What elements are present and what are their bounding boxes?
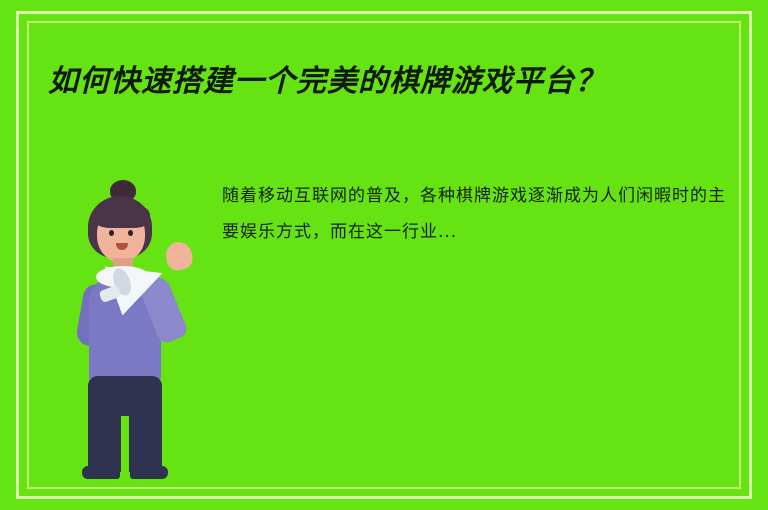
eye-left [109, 230, 114, 236]
eye-right [128, 230, 133, 236]
body-paragraph: 随着移动互联网的普及，各种棋牌游戏逐渐成为人们闲暇时的主要娱乐方式，而在这一行业… [222, 178, 732, 250]
hand-right [163, 240, 194, 273]
page-title: 如何快速搭建一个完美的棋牌游戏平台？ [48, 62, 728, 102]
hair-bangs [94, 202, 150, 228]
illustration-woman-with-megaphone [52, 180, 212, 480]
shoe-right [130, 466, 168, 479]
shoe-left [82, 466, 120, 479]
poster-canvas: 如何快速搭建一个完美的棋牌游戏平台？ 随着移动互联网的普及，各种棋牌游戏逐渐成为… [0, 0, 768, 510]
leg-gap [121, 416, 129, 472]
